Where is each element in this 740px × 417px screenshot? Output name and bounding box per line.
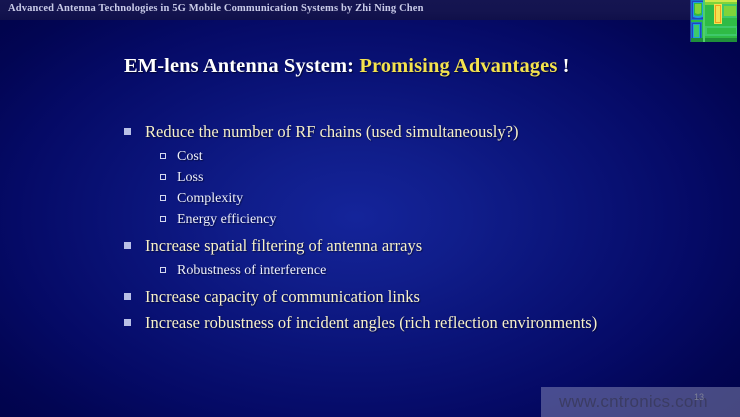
list-item: Increase capacity of communication links [124, 285, 684, 308]
list-item-label: Increase capacity of communication links [145, 285, 684, 308]
list-item-label: Increase spatial filtering of antenna ar… [145, 234, 684, 257]
list-item: Increase robustness of incident angles (… [124, 311, 684, 334]
sub-list-item-label: Loss [177, 167, 684, 188]
title-accent-phrase: Promising Advantages [359, 55, 557, 77]
bullet-list: Reduce the number of RF chains (used sim… [124, 120, 684, 337]
sub-list-item: Loss [160, 167, 684, 188]
sub-list-item-label: Cost [177, 146, 684, 167]
list-item-label: Reduce the number of RF chains (used sim… [145, 120, 684, 143]
list-item: Reduce the number of RF chains (used sim… [124, 120, 684, 143]
bullet-group: Reduce the number of RF chains (used sim… [124, 120, 684, 230]
sub-list-item-label: Complexity [177, 188, 684, 209]
sub-list-item: Robustness of interference [160, 260, 684, 281]
hollow-square-bullet-icon [160, 153, 166, 159]
sub-list-item: Energy efficiency [160, 209, 684, 230]
title-plain-prefix: EM-lens Antenna System: [124, 55, 354, 77]
em-field-heatmap-graphic [691, 0, 737, 42]
em-field-simulation-thumbnail-icon [690, 0, 737, 42]
sub-bullet-list: Robustness of interference [124, 260, 684, 281]
filled-square-bullet-icon [124, 293, 131, 300]
header-band: Advanced Antenna Technologies in 5G Mobi… [0, 0, 740, 20]
slide-canvas: Advanced Antenna Technologies in 5G Mobi… [0, 0, 740, 417]
bullet-group: Increase spatial filtering of antenna ar… [124, 234, 684, 281]
sub-list-item-label: Robustness of interference [177, 260, 684, 281]
filled-square-bullet-icon [124, 128, 131, 135]
sub-list-item-label: Energy efficiency [177, 209, 684, 230]
list-item: Increase spatial filtering of antenna ar… [124, 234, 684, 257]
bullet-group: Increase robustness of incident angles (… [124, 311, 684, 334]
watermark-label: www.cntronics.com [559, 392, 708, 412]
sub-list-item: Complexity [160, 188, 684, 209]
title-plain-suffix: ! [563, 55, 570, 77]
hollow-square-bullet-icon [160, 267, 166, 273]
hollow-square-bullet-icon [160, 195, 166, 201]
hollow-square-bullet-icon [160, 216, 166, 222]
hollow-square-bullet-icon [160, 174, 166, 180]
filled-square-bullet-icon [124, 242, 131, 249]
bullet-group: Increase capacity of communication links [124, 285, 684, 308]
sub-list-item: Cost [160, 146, 684, 167]
sub-bullet-list: Cost Loss Complexity Energy efficiency [124, 146, 684, 230]
page-title: EM-lens Antenna System: Promising Advant… [124, 55, 570, 78]
filled-square-bullet-icon [124, 319, 131, 326]
page-number: 13 [694, 392, 704, 402]
presentation-title-header: Advanced Antenna Technologies in 5G Mobi… [8, 3, 424, 14]
list-item-label: Increase robustness of incident angles (… [145, 311, 684, 334]
